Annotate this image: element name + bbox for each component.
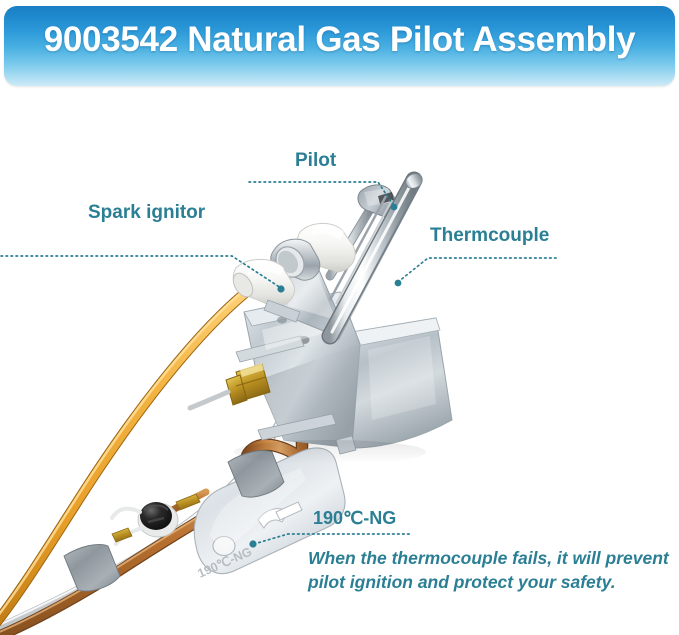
brass-fitting (190, 363, 270, 408)
burner-shield-body (236, 292, 452, 454)
thermal-switch (112, 494, 200, 544)
thermocouple-probe (330, 171, 425, 339)
callout-label-pilot: Pilot (295, 150, 336, 172)
page-title: 9003542 Natural Gas Pilot Assembly (4, 20, 675, 60)
leader-temperature (254, 534, 412, 544)
thermocouple-lead (0, 408, 286, 632)
spark-ignitor-ceramic (229, 223, 355, 322)
leader-thermocouple (398, 258, 556, 282)
product-illustration: 190℃-NG (0, 0, 679, 635)
tape-clamps (64, 450, 284, 591)
dot-spark (277, 285, 284, 292)
dot-temperature (249, 540, 256, 547)
product-infographic: 9003542 Natural Gas Pilot Assembly (0, 0, 679, 635)
leader-pilot (249, 182, 394, 206)
callout-label-temperature: 190℃-NG (313, 508, 396, 529)
copper-gas-tube (0, 392, 322, 635)
safety-description-text: When the thermocouple fails, it will pre… (308, 546, 670, 594)
bracket-engraving: 190℃-NG (196, 544, 255, 580)
header-banner: 9003542 Natural Gas Pilot Assembly (4, 6, 675, 86)
callout-label-thermocouple: Thermcouple (430, 225, 549, 247)
leader-spark (0, 256, 281, 288)
callout-end-dots (249, 204, 401, 548)
pilot-bracket-arm (273, 185, 400, 333)
dot-thermocouple (395, 280, 402, 287)
dot-pilot (391, 204, 398, 211)
ignitor-wire (0, 281, 258, 628)
callout-label-spark-ignitor: Spark ignitor (88, 202, 205, 224)
